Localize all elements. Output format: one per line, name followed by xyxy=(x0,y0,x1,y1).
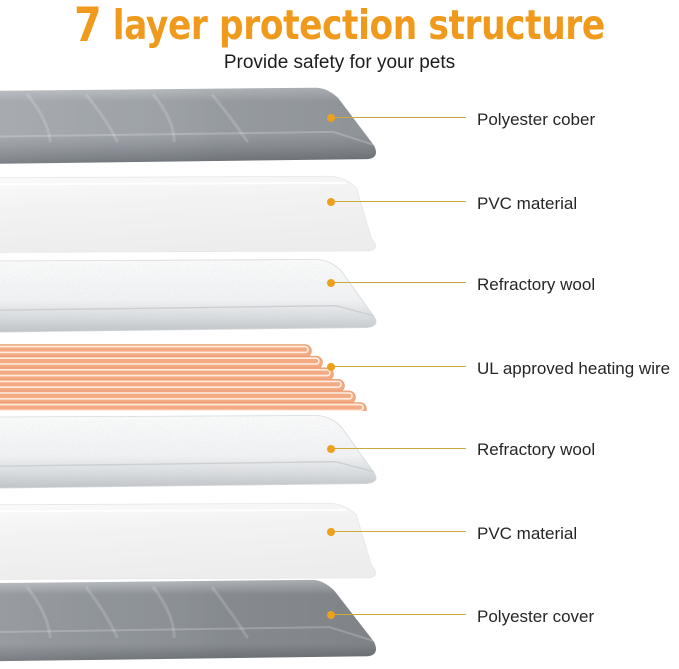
page-subtitle: Provide safety for your pets xyxy=(0,51,679,75)
title-text: layer protection structure xyxy=(101,1,605,49)
layer-2-pvc-sheet xyxy=(0,173,430,255)
layer-7-polyester-fabric xyxy=(0,578,430,669)
layer-4-heating-wire xyxy=(0,343,430,411)
polyester-fabric-slab xyxy=(0,578,380,669)
refractory-wool-slab xyxy=(0,413,380,497)
layer-6-pvc-sheet xyxy=(0,500,430,582)
layer-label-3: Refractory wool xyxy=(477,275,595,295)
layer-label-1: Polyester cober xyxy=(477,110,595,130)
layer-1-polyester-fabric xyxy=(0,86,430,171)
pvc-sheet-slab xyxy=(0,173,380,255)
page-title: 7 layer protection structure xyxy=(54,2,624,49)
seven-layer-protection-infographic: 7 layer protection structure Provide saf… xyxy=(0,0,679,669)
layer-label-5: Refractory wool xyxy=(477,440,595,460)
header: 7 layer protection structure Provide saf… xyxy=(0,0,679,82)
title-layer-count: 7 xyxy=(74,0,101,53)
layer-5-refractory-wool xyxy=(0,413,430,497)
layer-label-7: Polyester cover xyxy=(477,607,594,627)
polyester-fabric-slab xyxy=(0,86,380,171)
layer-label-6: PVC material xyxy=(477,524,577,544)
pvc-sheet-slab xyxy=(0,500,380,582)
heating-wire-slab xyxy=(0,343,380,411)
layer-label-4: UL approved heating wire xyxy=(477,359,670,379)
layer-3-refractory-wool xyxy=(0,257,430,341)
refractory-wool-slab xyxy=(0,257,380,341)
layer-label-2: PVC material xyxy=(477,194,577,214)
